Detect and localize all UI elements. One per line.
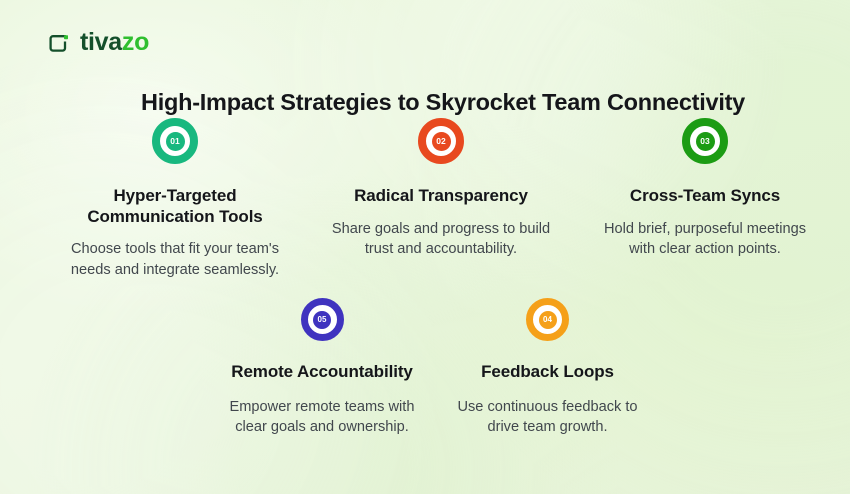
strategy-card-1-title: Hyper-Targeted Communication Tools: [62, 186, 288, 227]
badge-wrap-4: 04: [443, 298, 652, 341]
step-badge-03: 03: [682, 118, 728, 164]
badge-wrap-2: 02: [330, 118, 552, 164]
page-title: High-Impact Strategies to Skyrocket Team…: [0, 88, 850, 116]
step-number-02: 02: [432, 132, 451, 151]
infographic-canvas: tivazo High-Impact Strategies to Skyrock…: [0, 0, 850, 494]
brand-logo: tivazo: [47, 30, 149, 55]
strategy-card-1-body: Choose tools that fit your team's needs …: [62, 239, 288, 280]
brand-wordmark-accent: zo: [122, 28, 149, 56]
strategy-card-5-body: Empower remote teams with clear goals an…: [212, 397, 432, 438]
step-number-05: 05: [313, 311, 331, 329]
strategy-card-2-title: Radical Transparency: [330, 186, 552, 207]
strategy-card-4: 04 Feedback Loops Use continuous feedbac…: [443, 298, 652, 438]
brand-wordmark: tivazo: [80, 30, 149, 55]
strategy-card-3-title: Cross-Team Syncs: [592, 186, 818, 207]
step-badge-01: 01: [152, 118, 198, 164]
strategy-card-1: 01 Hyper-Targeted Communication Tools Ch…: [62, 118, 288, 281]
badge-wrap-5: 05: [212, 298, 432, 341]
badge-wrap-1: 01: [62, 118, 288, 164]
tivazo-square-logo-icon: [47, 31, 71, 55]
step-badge-04: 04: [526, 298, 569, 341]
badge-wrap-3: 03: [592, 118, 818, 164]
strategy-card-3: 03 Cross-Team Syncs Hold brief, purposef…: [592, 118, 818, 260]
strategy-card-5-title: Remote Accountability: [212, 362, 432, 383]
brand-wordmark-dark: tiva: [80, 28, 122, 56]
strategy-card-2: 02 Radical Transparency Share goals and …: [330, 118, 552, 260]
strategy-card-3-body: Hold brief, purposeful meetings with cle…: [592, 219, 818, 260]
step-number-01: 01: [166, 132, 185, 151]
step-number-03: 03: [696, 132, 715, 151]
strategy-card-4-title: Feedback Loops: [443, 362, 652, 383]
strategy-card-4-body: Use continuous feedback to drive team gr…: [443, 397, 652, 438]
step-number-04: 04: [539, 311, 557, 329]
step-badge-05: 05: [301, 298, 344, 341]
step-badge-02: 02: [418, 118, 464, 164]
strategy-card-5: 05 Remote Accountability Empower remote …: [212, 298, 432, 438]
strategy-card-2-body: Share goals and progress to build trust …: [330, 219, 552, 260]
